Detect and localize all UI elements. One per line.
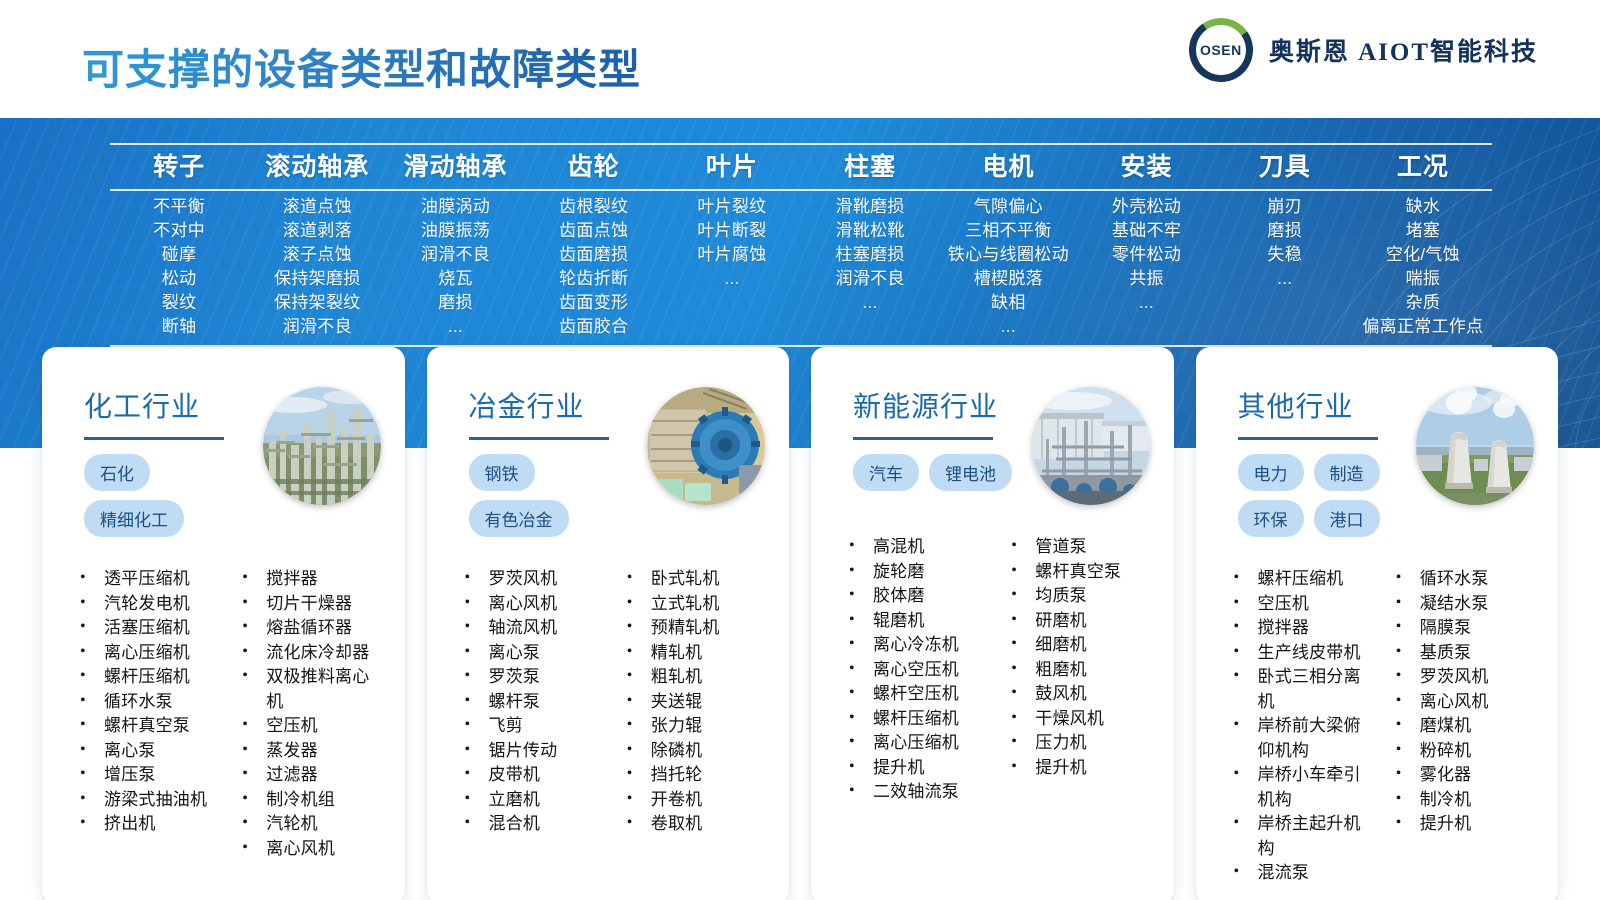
card-title-block: 新能源行业汽车锂电池 bbox=[831, 371, 1012, 491]
list-item: 螺杆真空泵 bbox=[70, 714, 222, 739]
fault-item: 滑靴松靴 bbox=[801, 219, 939, 243]
card-tag-list: 汽车锂电池 bbox=[853, 454, 1012, 491]
fault-column-title: 转子 bbox=[110, 145, 248, 189]
list-item: 活塞压缩机 bbox=[70, 616, 222, 641]
list-item: 精轧机 bbox=[617, 641, 769, 666]
equipment-list-left: 罗茨风机离心风机轴流风机离心泵罗茨泵螺杆泵飞剪锯片传动皮带机立磨机混合机 bbox=[455, 567, 607, 837]
fault-item: 滚子点蚀 bbox=[248, 243, 386, 267]
equipment-list-left: 透平压缩机汽轮发电机活塞压缩机离心压缩机螺杆压缩机循环水泵螺杆真空泵离心泵增压泵… bbox=[70, 567, 222, 861]
list-item: 粉碎机 bbox=[1386, 739, 1538, 764]
fault-column-header: 转子 bbox=[110, 145, 248, 189]
fault-item: 断轴 bbox=[110, 315, 248, 339]
fault-item: 齿根裂纹 bbox=[525, 195, 663, 219]
industry-card[interactable]: 冶金行业钢铁有色冶金 bbox=[427, 347, 790, 900]
list-item: 混合机 bbox=[455, 812, 607, 837]
list-item: 离心压缩机 bbox=[839, 731, 991, 756]
list-item: 螺杆压缩机 bbox=[70, 665, 222, 690]
list-item: 离心风机 bbox=[232, 837, 384, 862]
fault-item: 喘振 bbox=[1354, 267, 1492, 291]
fault-item: 润滑不良 bbox=[386, 243, 524, 267]
card-tag-list: 电力制造环保港口 bbox=[1238, 454, 1417, 537]
list-item: 旋轮磨 bbox=[839, 560, 991, 585]
list-item: 提升机 bbox=[839, 756, 991, 781]
fault-column-header: 电机 bbox=[939, 145, 1077, 189]
equipment-list: 高混机旋轮磨胶体磨辊磨机离心冷冻机离心空压机螺杆空压机螺杆压缩机离心压缩机提升机… bbox=[839, 535, 991, 805]
list-item: 管道泵 bbox=[1001, 535, 1153, 560]
list-item: 胶体磨 bbox=[839, 584, 991, 609]
brand-logo: OSEN 奥斯恩 AIOT智能科技 bbox=[1189, 18, 1538, 82]
fault-item: 杂质 bbox=[1354, 291, 1492, 315]
list-item: 张力辊 bbox=[617, 714, 769, 739]
list-item: 蒸发器 bbox=[232, 739, 384, 764]
list-item: 卧式轧机 bbox=[617, 567, 769, 592]
fault-item: 齿面胶合 bbox=[525, 315, 663, 339]
list-item: 雾化器 bbox=[1386, 763, 1538, 788]
list-item: 离心风机 bbox=[1386, 690, 1538, 715]
equipment-list: 循环水泵凝结水泵隔膜泵基质泵罗茨风机离心风机磨煤机粉碎机雾化器制冷机提升机 bbox=[1386, 567, 1538, 837]
card-tag[interactable]: 锂电池 bbox=[929, 454, 1012, 491]
fault-column-items: 滚道点蚀滚道剥落滚子点蚀保持架磨损保持架裂纹润滑不良 bbox=[248, 191, 386, 341]
fault-item: ... bbox=[386, 315, 524, 339]
equipment-list: 透平压缩机汽轮发电机活塞压缩机离心压缩机螺杆压缩机循环水泵螺杆真空泵离心泵增压泵… bbox=[70, 567, 222, 837]
fault-item: 基础不牢 bbox=[1077, 219, 1215, 243]
fault-item: ... bbox=[939, 315, 1077, 339]
fault-item: 滚道剥落 bbox=[248, 219, 386, 243]
fault-column-items: 滑靴磨损滑靴松靴柱塞磨损润滑不良... bbox=[801, 191, 939, 341]
fault-item: 齿面磨损 bbox=[525, 243, 663, 267]
fault-item: 共振 bbox=[1077, 267, 1215, 291]
list-item: 增压泵 bbox=[70, 763, 222, 788]
list-item: 二效轴流泵 bbox=[839, 780, 991, 805]
list-item: 预精轧机 bbox=[617, 616, 769, 641]
list-item: 罗茨泵 bbox=[455, 665, 607, 690]
fault-item: 滑靴磨损 bbox=[801, 195, 939, 219]
list-item: 罗茨风机 bbox=[1386, 665, 1538, 690]
chemical-plant-photo bbox=[263, 387, 381, 505]
list-item: 循环水泵 bbox=[1386, 567, 1538, 592]
card-header: 冶金行业钢铁有色冶金 bbox=[447, 371, 770, 537]
list-item: 卧式三相分离机 bbox=[1224, 665, 1376, 714]
card-title: 新能源行业 bbox=[853, 385, 1012, 425]
list-item: 基质泵 bbox=[1386, 641, 1538, 666]
list-item: 熔盐循环器 bbox=[232, 616, 384, 641]
card-tag[interactable]: 有色冶金 bbox=[469, 500, 569, 537]
fault-column-header: 叶片 bbox=[663, 145, 801, 189]
fault-item: 铁心与线圈松动 bbox=[939, 243, 1077, 267]
fault-item: ... bbox=[1077, 291, 1215, 315]
list-item: 卷取机 bbox=[617, 812, 769, 837]
card-title-underline bbox=[1238, 437, 1378, 440]
fault-item: 零件松动 bbox=[1077, 243, 1215, 267]
fault-header-row: 转子滚动轴承滑动轴承齿轮叶片柱塞电机安装刀具工况 bbox=[110, 145, 1492, 189]
equipment-list-left: 高混机旋轮磨胶体磨辊磨机离心冷冻机离心空压机螺杆空压机螺杆压缩机离心压缩机提升机… bbox=[839, 535, 991, 805]
fault-item: 润滑不良 bbox=[248, 315, 386, 339]
fault-column-items: 油膜涡动油膜振荡润滑不良烧瓦磨损... bbox=[386, 191, 524, 341]
fault-item: 气隙偏心 bbox=[939, 195, 1077, 219]
card-header: 新能源行业汽车锂电池 bbox=[831, 371, 1154, 505]
fault-column-title: 安装 bbox=[1077, 145, 1215, 189]
list-item: 螺杆压缩机 bbox=[839, 707, 991, 732]
fault-item: 烧瓦 bbox=[386, 267, 524, 291]
list-item: 锯片传动 bbox=[455, 739, 607, 764]
industry-card[interactable]: 化工行业石化精细化工 透平压缩机汽 bbox=[42, 347, 405, 900]
fault-item: 叶片腐蚀 bbox=[663, 243, 801, 267]
equipment-list: 螺杆压缩机空压机搅拌器生产线皮带机卧式三相分离机岸桥前大梁俯仰机构岸桥小车牵引机… bbox=[1224, 567, 1376, 886]
card-title-underline bbox=[84, 437, 224, 440]
card-tag[interactable]: 精细化工 bbox=[84, 500, 184, 537]
equipment-list-right: 管道泵螺杆真空泵均质泵研磨机细磨机粗磨机鼓风机干燥风机压力机提升机 bbox=[1001, 535, 1153, 805]
fault-column-items: 气隙偏心三相不平衡铁心与线圈松动槽楔脱落缺相... bbox=[939, 191, 1077, 341]
fault-column-header: 安装 bbox=[1077, 145, 1215, 189]
fault-column-header: 滚动轴承 bbox=[248, 145, 386, 189]
list-item: 螺杆压缩机 bbox=[1224, 567, 1376, 592]
list-item: 透平压缩机 bbox=[70, 567, 222, 592]
slide-root: 可支撑的设备类型和故障类型 OSEN 奥斯恩 AIOT智能科技 bbox=[0, 0, 1600, 900]
fault-item: 不平衡 bbox=[110, 195, 248, 219]
fault-item: 叶片裂纹 bbox=[663, 195, 801, 219]
list-item: 罗茨风机 bbox=[455, 567, 607, 592]
fault-item: 齿面变形 bbox=[525, 291, 663, 315]
list-item: 干燥风机 bbox=[1001, 707, 1153, 732]
list-item: 均质泵 bbox=[1001, 584, 1153, 609]
page-title: 可支撑的设备类型和故障类型 bbox=[82, 36, 641, 97]
fault-item: 油膜涡动 bbox=[386, 195, 524, 219]
list-item: 挤出机 bbox=[70, 812, 222, 837]
list-item: 立磨机 bbox=[455, 788, 607, 813]
industry-card[interactable]: 其他行业电力制造环保港口 螺杆压缩机空压机搅拌器生产线皮带机卧式三相分离机岸桥前… bbox=[1196, 347, 1559, 900]
card-tag[interactable]: 港口 bbox=[1314, 500, 1380, 537]
fault-item: 松动 bbox=[110, 267, 248, 291]
fault-column-title: 工况 bbox=[1354, 145, 1492, 189]
list-item: 搅拌器 bbox=[1224, 616, 1376, 641]
card-title: 化工行业 bbox=[84, 385, 254, 425]
list-item: 飞剪 bbox=[455, 714, 607, 739]
card-title-underline bbox=[853, 437, 993, 440]
fault-column-title: 叶片 bbox=[663, 145, 801, 189]
card-title-underline bbox=[469, 437, 609, 440]
fault-item: 轮齿折断 bbox=[525, 267, 663, 291]
card-tag[interactable]: 石化 bbox=[84, 454, 150, 491]
fault-item: 叶片断裂 bbox=[663, 219, 801, 243]
card-tag-list: 石化精细化工 bbox=[84, 454, 254, 537]
list-item: 制冷机组 bbox=[232, 788, 384, 813]
fault-item: 碰摩 bbox=[110, 243, 248, 267]
new-energy-plant-photo bbox=[1032, 387, 1150, 505]
equipment-lists: 高混机旋轮磨胶体磨辊磨机离心冷冻机离心空压机螺杆空压机螺杆压缩机离心压缩机提升机… bbox=[831, 535, 1154, 805]
list-item: 轴流风机 bbox=[455, 616, 607, 641]
equipment-list: 管道泵螺杆真空泵均质泵研磨机细磨机粗磨机鼓风机干燥风机压力机提升机 bbox=[1001, 535, 1153, 780]
card-title: 其他行业 bbox=[1238, 385, 1417, 425]
card-tag[interactable]: 环保 bbox=[1238, 500, 1304, 537]
fault-column-items: 外壳松动基础不牢零件松动共振... bbox=[1077, 191, 1215, 341]
fault-column-items: 齿根裂纹齿面点蚀齿面磨损轮齿折断齿面变形齿面胶合 bbox=[525, 191, 663, 341]
fault-item: 三相不平衡 bbox=[939, 219, 1077, 243]
fault-item: 磨损 bbox=[1216, 219, 1354, 243]
list-item: 高混机 bbox=[839, 535, 991, 560]
list-item: 空压机 bbox=[232, 714, 384, 739]
fault-item: 偏离正常工作点 bbox=[1354, 315, 1492, 339]
fault-column-header: 滑动轴承 bbox=[386, 145, 524, 189]
fault-column-title: 柱塞 bbox=[801, 145, 939, 189]
list-item: 螺杆真空泵 bbox=[1001, 560, 1153, 585]
fault-item: 槽楔脱落 bbox=[939, 267, 1077, 291]
list-item: 凝结水泵 bbox=[1386, 592, 1538, 617]
list-item: 切片干燥器 bbox=[232, 592, 384, 617]
list-item: 离心冷冻机 bbox=[839, 633, 991, 658]
fault-item: 外壳松动 bbox=[1077, 195, 1215, 219]
fault-column-header: 刀具 bbox=[1216, 145, 1354, 189]
fault-type-table: 转子滚动轴承滑动轴承齿轮叶片柱塞电机安装刀具工况 不平衡不对中碰摩松动裂纹断轴滚… bbox=[110, 143, 1492, 347]
equipment-list: 搅拌器切片干燥器熔盐循环器流化床冷却器双极推料离心机空压机蒸发器过滤器制冷机组汽… bbox=[232, 567, 384, 861]
list-item: 压力机 bbox=[1001, 731, 1153, 756]
list-item: 提升机 bbox=[1001, 756, 1153, 781]
card-tag-list: 钢铁有色冶金 bbox=[469, 454, 639, 537]
equipment-list: 罗茨风机离心风机轴流风机离心泵罗茨泵螺杆泵飞剪锯片传动皮带机立磨机混合机 bbox=[455, 567, 607, 837]
list-item: 循环水泵 bbox=[70, 690, 222, 715]
list-item: 过滤器 bbox=[232, 763, 384, 788]
fault-column-title: 齿轮 bbox=[525, 145, 663, 189]
card-header: 其他行业电力制造环保港口 bbox=[1216, 371, 1539, 537]
list-item: 离心压缩机 bbox=[70, 641, 222, 666]
fault-column-header: 齿轮 bbox=[525, 145, 663, 189]
card-header: 化工行业石化精细化工 bbox=[62, 371, 385, 537]
fault-item: ... bbox=[801, 291, 939, 315]
fault-item: 裂纹 bbox=[110, 291, 248, 315]
list-item: 立式轧机 bbox=[617, 592, 769, 617]
list-item: 制冷机 bbox=[1386, 788, 1538, 813]
cooling-towers-photo bbox=[1416, 387, 1534, 505]
list-item: 游梁式抽油机 bbox=[70, 788, 222, 813]
list-item: 离心空压机 bbox=[839, 658, 991, 683]
logo-wordmark: OSEN bbox=[1189, 18, 1253, 82]
fault-item: 保持架裂纹 bbox=[248, 291, 386, 315]
fault-body-row: 不平衡不对中碰摩松动裂纹断轴滚道点蚀滚道剥落滚子点蚀保持架磨损保持架裂纹润滑不良… bbox=[110, 191, 1492, 341]
fault-item: 磨损 bbox=[386, 291, 524, 315]
fault-column-title: 滑动轴承 bbox=[386, 145, 524, 189]
card-title: 冶金行业 bbox=[469, 385, 639, 425]
fault-item: 齿面点蚀 bbox=[525, 219, 663, 243]
list-item: 磨煤机 bbox=[1386, 714, 1538, 739]
list-item: 粗磨机 bbox=[1001, 658, 1153, 683]
fault-item: 不对中 bbox=[110, 219, 248, 243]
list-item: 流化床冷却器 bbox=[232, 641, 384, 666]
card-tag[interactable]: 钢铁 bbox=[469, 454, 535, 491]
list-item: 岸桥前大梁俯仰机构 bbox=[1224, 714, 1376, 763]
list-item: 除磷机 bbox=[617, 739, 769, 764]
fault-item: 缺相 bbox=[939, 291, 1077, 315]
list-item: 汽轮发电机 bbox=[70, 592, 222, 617]
fault-item: 崩刃 bbox=[1216, 195, 1354, 219]
list-item: 研磨机 bbox=[1001, 609, 1153, 634]
list-item: 开卷机 bbox=[617, 788, 769, 813]
list-item: 皮带机 bbox=[455, 763, 607, 788]
list-item: 汽轮机 bbox=[232, 812, 384, 837]
fault-column-items: 崩刃磨损失稳... bbox=[1216, 191, 1354, 341]
fault-column-header: 柱塞 bbox=[801, 145, 939, 189]
fault-item: 滚道点蚀 bbox=[248, 195, 386, 219]
list-item: 螺杆空压机 bbox=[839, 682, 991, 707]
fault-column-title: 刀具 bbox=[1216, 145, 1354, 189]
list-item: 双极推料离心机 bbox=[232, 665, 384, 714]
osen-ring-icon: OSEN bbox=[1189, 18, 1253, 82]
fault-item: 缺水 bbox=[1354, 195, 1492, 219]
ball-mill-photo bbox=[647, 387, 765, 505]
fault-column-title: 滚动轴承 bbox=[248, 145, 386, 189]
card-tag[interactable]: 汽车 bbox=[853, 454, 919, 491]
fault-item: 堵塞 bbox=[1354, 219, 1492, 243]
fault-column-items: 叶片裂纹叶片断裂叶片腐蚀... bbox=[663, 191, 801, 341]
fault-item: ... bbox=[663, 267, 801, 291]
equipment-list-right: 卧式轧机立式轧机预精轧机精轧机粗轧机夹送辊张力辊除磷机挡托轮开卷机卷取机 bbox=[617, 567, 769, 837]
card-title-block: 化工行业石化精细化工 bbox=[62, 371, 254, 537]
fault-column-header: 工况 bbox=[1354, 145, 1492, 189]
equipment-lists: 罗茨风机离心风机轴流风机离心泵罗茨泵螺杆泵飞剪锯片传动皮带机立磨机混合机卧式轧机… bbox=[447, 567, 770, 837]
list-item: 离心风机 bbox=[455, 592, 607, 617]
industry-card-row: 化工行业石化精细化工 透平压缩机汽 bbox=[42, 347, 1558, 900]
card-title-block: 冶金行业钢铁有色冶金 bbox=[447, 371, 639, 537]
fault-item: 失稳 bbox=[1216, 243, 1354, 267]
equipment-lists: 螺杆压缩机空压机搅拌器生产线皮带机卧式三相分离机岸桥前大梁俯仰机构岸桥小车牵引机… bbox=[1216, 567, 1539, 886]
list-item: 粗轧机 bbox=[617, 665, 769, 690]
list-item: 岸桥小车牵引机构 bbox=[1224, 763, 1376, 812]
fault-column-title: 电机 bbox=[939, 145, 1077, 189]
list-item: 细磨机 bbox=[1001, 633, 1153, 658]
equipment-lists: 透平压缩机汽轮发电机活塞压缩机离心压缩机螺杆压缩机循环水泵螺杆真空泵离心泵增压泵… bbox=[62, 567, 385, 861]
list-item: 鼓风机 bbox=[1001, 682, 1153, 707]
list-item: 离心泵 bbox=[455, 641, 607, 666]
card-title-block: 其他行业电力制造环保港口 bbox=[1216, 371, 1417, 537]
fault-item: 保持架磨损 bbox=[248, 267, 386, 291]
list-item: 搅拌器 bbox=[232, 567, 384, 592]
fault-item: 柱塞磨损 bbox=[801, 243, 939, 267]
fault-item: 油膜振荡 bbox=[386, 219, 524, 243]
list-item: 夹送辊 bbox=[617, 690, 769, 715]
fault-item: 润滑不良 bbox=[801, 267, 939, 291]
list-item: 隔膜泵 bbox=[1386, 616, 1538, 641]
brand-name: 奥斯恩 AIOT智能科技 bbox=[1269, 32, 1538, 68]
list-item: 混流泵 bbox=[1224, 861, 1376, 886]
list-item: 岸桥主起升机构 bbox=[1224, 812, 1376, 861]
card-tag[interactable]: 电力 bbox=[1238, 454, 1304, 491]
list-item: 挡托轮 bbox=[617, 763, 769, 788]
card-tag[interactable]: 制造 bbox=[1314, 454, 1380, 491]
fault-item: 空化/气蚀 bbox=[1354, 243, 1492, 267]
fault-column-items: 缺水堵塞空化/气蚀喘振杂质偏离正常工作点 bbox=[1354, 191, 1492, 341]
equipment-list-right: 循环水泵凝结水泵隔膜泵基质泵罗茨风机离心风机磨煤机粉碎机雾化器制冷机提升机 bbox=[1386, 567, 1538, 886]
equipment-list: 卧式轧机立式轧机预精轧机精轧机粗轧机夹送辊张力辊除磷机挡托轮开卷机卷取机 bbox=[617, 567, 769, 837]
list-item: 空压机 bbox=[1224, 592, 1376, 617]
fault-column-items: 不平衡不对中碰摩松动裂纹断轴 bbox=[110, 191, 248, 341]
list-item: 提升机 bbox=[1386, 812, 1538, 837]
list-item: 螺杆泵 bbox=[455, 690, 607, 715]
list-item: 辊磨机 bbox=[839, 609, 991, 634]
equipment-list-left: 螺杆压缩机空压机搅拌器生产线皮带机卧式三相分离机岸桥前大梁俯仰机构岸桥小车牵引机… bbox=[1224, 567, 1376, 886]
fault-item: ... bbox=[1216, 267, 1354, 291]
list-item: 生产线皮带机 bbox=[1224, 641, 1376, 666]
industry-card[interactable]: 新能源行业汽车锂电池 bbox=[811, 347, 1174, 900]
list-item: 离心泵 bbox=[70, 739, 222, 764]
equipment-list-right: 搅拌器切片干燥器熔盐循环器流化床冷却器双极推料离心机空压机蒸发器过滤器制冷机组汽… bbox=[232, 567, 384, 861]
